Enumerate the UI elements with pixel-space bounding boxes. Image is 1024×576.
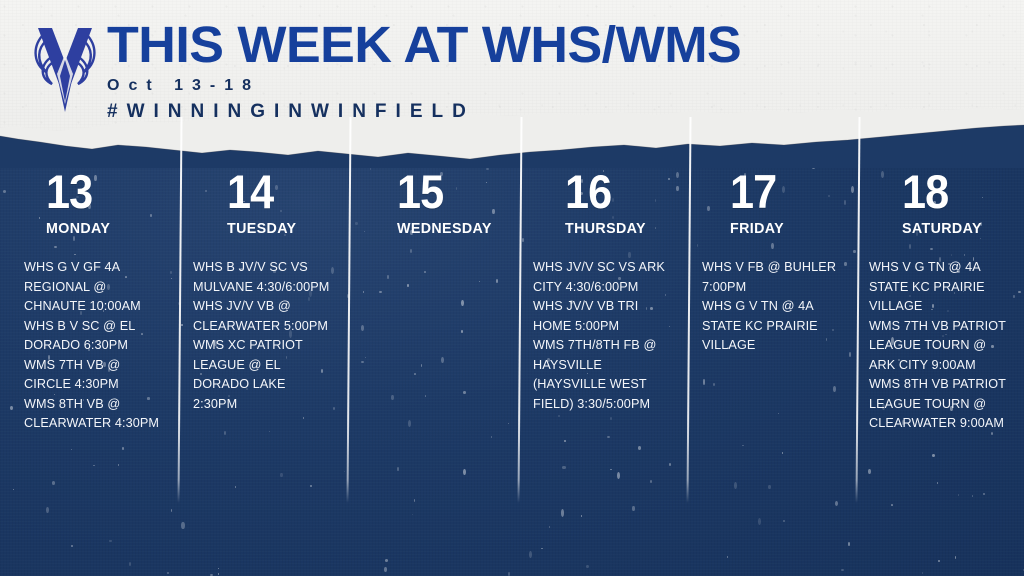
event-item: WHS G V GF 4A REGIONAL @ CHNAUTE 10:00AM bbox=[24, 257, 161, 316]
week-grid: 13 MONDAY WHS G V GF 4A REGIONAL @ CHNAU… bbox=[0, 118, 1024, 576]
day-number: 17 bbox=[730, 172, 836, 212]
day-number: 14 bbox=[227, 172, 327, 212]
date-range-label: Oct 13-18 bbox=[107, 77, 729, 95]
day-number: 15 bbox=[397, 172, 498, 212]
event-item: WHS V G TN @ 4A STATE KC PRAIRIE VILLAGE bbox=[869, 257, 1006, 316]
day-number: 16 bbox=[565, 172, 667, 212]
event-item: WMS 8TH VB PATRIOT LEAGUE TOURN @ CLEARW… bbox=[869, 374, 1006, 433]
day-column-saturday: 18 SATURDAY WHS V G TN @ 4A STATE KC PRA… bbox=[857, 118, 1024, 576]
event-list-tuesday: WHS B JV/V SC VS MULVANE 4:30/6:00PM WHS… bbox=[193, 257, 336, 413]
day-name-label: THURSDAY bbox=[565, 220, 670, 237]
header-title-block: THIS WEEK AT WHS/WMS Oct 13-18 #WINNINGI… bbox=[107, 18, 729, 123]
event-list-saturday: WHS V G TN @ 4A STATE KC PRAIRIE VILLAGE… bbox=[869, 257, 1012, 433]
day-column-thursday: 16 THURSDAY WHS JV/V SC VS ARK CITY 4:30… bbox=[519, 118, 688, 576]
event-item: WHS JV/V VB @ CLEARWATER 5:00PM bbox=[193, 296, 330, 335]
day-name-label: SATURDAY bbox=[902, 220, 1007, 237]
event-item: WHS V FB @ BUHLER 7:00PM bbox=[702, 257, 839, 296]
winfield-viking-w-logo bbox=[26, 14, 104, 118]
event-item: WHS G V TN @ 4A STATE KC PRAIRIE VILLAGE bbox=[702, 296, 839, 355]
event-item: WHS B V SC @ EL DORADO 6:30PM bbox=[24, 316, 161, 355]
event-item: WHS JV/V SC VS ARK CITY 4:30/6:00PM bbox=[533, 257, 670, 296]
day-name-label: TUESDAY bbox=[227, 220, 331, 237]
event-item: WMS XC PATRIOT LEAGUE @ EL DORADO LAKE 2… bbox=[193, 335, 330, 413]
event-item: WMS 7TH/8TH FB @ HAYSVILLE (HAYSVILLE WE… bbox=[533, 335, 670, 413]
day-name-label: WEDNESDAY bbox=[397, 220, 502, 237]
event-list-thursday: WHS JV/V SC VS ARK CITY 4:30/6:00PM WHS … bbox=[533, 257, 676, 413]
event-list-monday: WHS G V GF 4A REGIONAL @ CHNAUTE 10:00AM… bbox=[24, 257, 167, 433]
day-column-friday: 17 FRIDAY WHS V FB @ BUHLER 7:00PM WHS G… bbox=[688, 118, 857, 576]
day-number: 13 bbox=[46, 172, 157, 212]
day-number: 18 bbox=[902, 172, 1003, 212]
event-item: WHS JV/V VB TRI HOME 5:00PM bbox=[533, 296, 670, 335]
page-title: THIS WEEK AT WHS/WMS bbox=[107, 18, 741, 72]
event-item: WMS 7TH VB @ CIRCLE 4:30PM bbox=[24, 355, 161, 394]
event-item: WMS 8TH VB @ CLEARWATER 4:30PM bbox=[24, 394, 161, 433]
day-column-wednesday: 15 WEDNESDAY bbox=[348, 118, 519, 576]
event-list-friday: WHS V FB @ BUHLER 7:00PM WHS G V TN @ 4A… bbox=[702, 257, 845, 355]
event-item: WHS B JV/V SC VS MULVANE 4:30/6:00PM bbox=[193, 257, 330, 296]
day-name-label: MONDAY bbox=[46, 220, 161, 237]
day-column-monday: 13 MONDAY WHS G V GF 4A REGIONAL @ CHNAU… bbox=[0, 118, 179, 576]
day-column-tuesday: 14 TUESDAY WHS B JV/V SC VS MULVANE 4:30… bbox=[179, 118, 348, 576]
weekly-schedule-poster: THIS WEEK AT WHS/WMS Oct 13-18 #WINNINGI… bbox=[0, 0, 1024, 576]
day-name-label: FRIDAY bbox=[730, 220, 839, 237]
event-item: WMS 7TH VB PATRIOT LEAGUE TOURN @ ARK CI… bbox=[869, 316, 1006, 375]
